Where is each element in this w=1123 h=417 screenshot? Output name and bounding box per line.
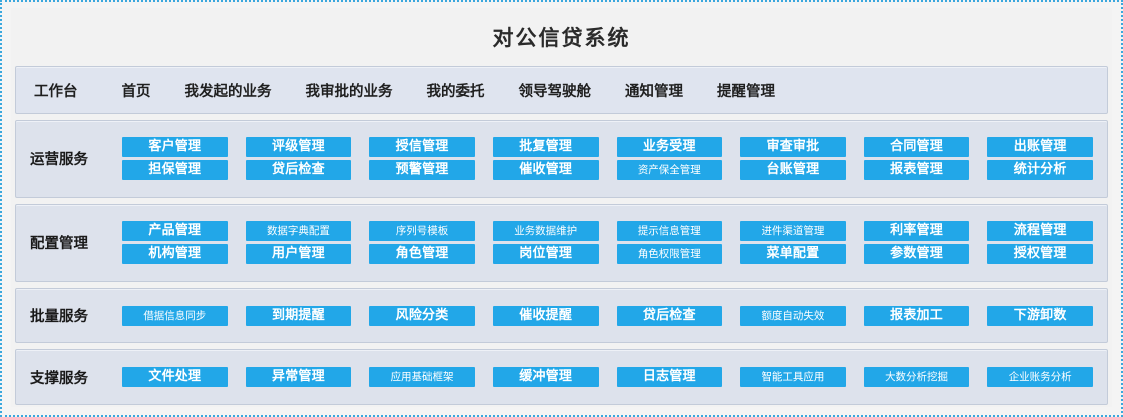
module-button[interactable]: 数据字典配置	[246, 221, 352, 241]
title-bar: 对公信贷系统	[11, 8, 1112, 66]
module-button[interactable]: 贷后检查	[246, 160, 352, 180]
module-button[interactable]: 贷后检查	[617, 306, 723, 326]
module-button[interactable]: 客户管理	[122, 137, 228, 157]
module-button[interactable]: 担保管理	[122, 160, 228, 180]
module-button[interactable]: 统计分析	[987, 160, 1093, 180]
module-panel-2: 批量服务借据信息同步到期提醒风险分类催收提醒贷后检查额度自动失效报表加工下游卸数	[15, 288, 1108, 344]
module-sections: 运营服务客户管理评级管理授信管理批复管理业务受理审查审批合同管理出账管理担保管理…	[15, 120, 1108, 407]
module-button[interactable]: 智能工具应用	[740, 367, 846, 387]
module-button[interactable]: 文件处理	[122, 367, 228, 387]
module-button[interactable]: 到期提醒	[246, 306, 352, 326]
module-button[interactable]: 催收管理	[493, 160, 599, 180]
nav-item-0[interactable]: 工作台	[34, 80, 78, 101]
module-button[interactable]: 产品管理	[122, 221, 228, 241]
page-container: 对公信贷系统 工作台首页我发起的业务我审批的业务我的委托领导驾驶舱通知管理提醒管…	[11, 8, 1112, 407]
module-button[interactable]: 日志管理	[617, 367, 723, 387]
module-button[interactable]: 资产保全管理	[617, 160, 723, 180]
module-button[interactable]: 异常管理	[246, 367, 352, 387]
module-button[interactable]: 业务数据维护	[493, 221, 599, 241]
module-button-grid-3: 文件处理异常管理应用基础框架缓冲管理日志管理智能工具应用大数分析挖掘企业账务分析	[122, 367, 1097, 387]
nav-item-1[interactable]: 首页	[122, 80, 151, 101]
module-button[interactable]: 审查审批	[740, 137, 846, 157]
module-button[interactable]: 评级管理	[246, 137, 352, 157]
module-panel-1: 配置管理产品管理数据字典配置序列号模板业务数据维护提示信息管理进件渠道管理利率管…	[15, 204, 1108, 282]
module-label-2: 批量服务	[30, 305, 122, 326]
module-button[interactable]: 应用基础框架	[369, 367, 475, 387]
nav-item-5[interactable]: 领导驾驶舱	[519, 80, 592, 101]
module-button[interactable]: 大数分析挖掘	[864, 367, 970, 387]
module-button[interactable]: 业务受理	[617, 137, 723, 157]
nav-item-6[interactable]: 通知管理	[625, 80, 683, 101]
module-panel-3: 支撑服务文件处理异常管理应用基础框架缓冲管理日志管理智能工具应用大数分析挖掘企业…	[15, 349, 1108, 405]
module-button[interactable]: 批复管理	[493, 137, 599, 157]
module-panel-0: 运营服务客户管理评级管理授信管理批复管理业务受理审查审批合同管理出账管理担保管理…	[15, 120, 1108, 198]
module-button[interactable]: 合同管理	[864, 137, 970, 157]
module-button[interactable]: 岗位管理	[493, 244, 599, 264]
page-title: 对公信贷系统	[493, 22, 631, 52]
module-button-grid-2: 借据信息同步到期提醒风险分类催收提醒贷后检查额度自动失效报表加工下游卸数	[122, 306, 1097, 326]
module-button[interactable]: 角色管理	[369, 244, 475, 264]
module-button[interactable]: 预警管理	[369, 160, 475, 180]
module-button[interactable]: 进件渠道管理	[740, 221, 846, 241]
module-label-3: 支撑服务	[30, 367, 122, 388]
module-button[interactable]: 授信管理	[369, 137, 475, 157]
module-button[interactable]: 借据信息同步	[122, 306, 228, 326]
nav-item-2[interactable]: 我发起的业务	[185, 80, 272, 101]
module-button[interactable]: 角色权限管理	[617, 244, 723, 264]
module-button[interactable]: 机构管理	[122, 244, 228, 264]
nav-item-4[interactable]: 我的委托	[427, 80, 485, 101]
nav-item-3[interactable]: 我审批的业务	[306, 80, 393, 101]
module-button[interactable]: 出账管理	[987, 137, 1093, 157]
main-navigation: 工作台首页我发起的业务我审批的业务我的委托领导驾驶舱通知管理提醒管理	[15, 66, 1108, 114]
module-button[interactable]: 授权管理	[987, 244, 1093, 264]
module-button[interactable]: 风险分类	[369, 306, 475, 326]
module-label-1: 配置管理	[30, 232, 122, 253]
nav-item-7[interactable]: 提醒管理	[717, 80, 775, 101]
module-button[interactable]: 下游卸数	[987, 306, 1093, 326]
module-button[interactable]: 额度自动失效	[740, 306, 846, 326]
module-button[interactable]: 提示信息管理	[617, 221, 723, 241]
module-button[interactable]: 参数管理	[864, 244, 970, 264]
module-button[interactable]: 台账管理	[740, 160, 846, 180]
module-button[interactable]: 序列号模板	[369, 221, 475, 241]
module-button[interactable]: 报表管理	[864, 160, 970, 180]
module-button[interactable]: 催收提醒	[493, 306, 599, 326]
module-label-0: 运营服务	[30, 148, 122, 169]
module-button[interactable]: 企业账务分析	[987, 367, 1093, 387]
module-button[interactable]: 流程管理	[987, 221, 1093, 241]
application-window: 对公信贷系统 工作台首页我发起的业务我审批的业务我的委托领导驾驶舱通知管理提醒管…	[0, 0, 1123, 417]
module-button[interactable]: 缓冲管理	[493, 367, 599, 387]
module-button[interactable]: 用户管理	[246, 244, 352, 264]
module-button-grid-0: 客户管理评级管理授信管理批复管理业务受理审查审批合同管理出账管理担保管理贷后检查…	[122, 137, 1097, 180]
module-button[interactable]: 利率管理	[864, 221, 970, 241]
module-button-grid-1: 产品管理数据字典配置序列号模板业务数据维护提示信息管理进件渠道管理利率管理流程管…	[122, 221, 1097, 264]
module-button[interactable]: 报表加工	[864, 306, 970, 326]
module-button[interactable]: 菜单配置	[740, 244, 846, 264]
